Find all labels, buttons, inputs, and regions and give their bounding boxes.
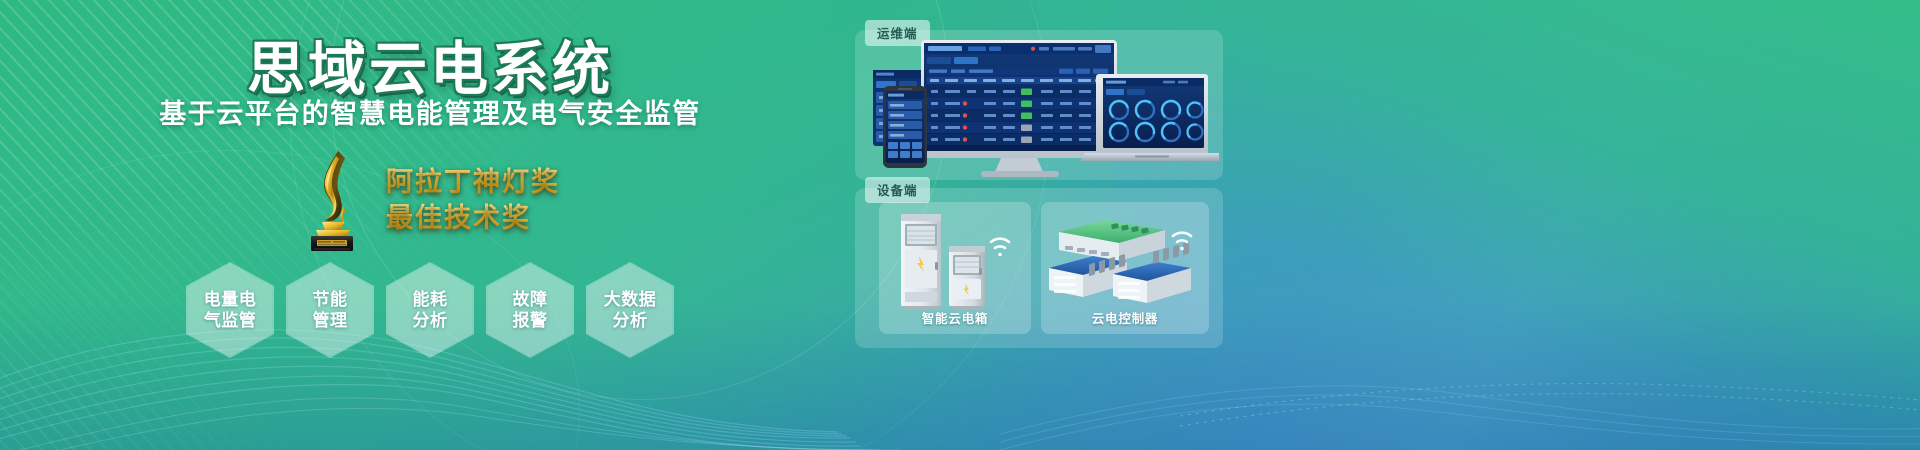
feature-badge-row: 电量电 气监管 节能 管理 能耗 分析 故障 报警 大数据 分析 <box>0 262 860 358</box>
feature-badge-label: 节能 管理 <box>313 289 348 332</box>
promo-banner: 思域云电系统 基于云平台的智慧电能管理及电气安全监管 <box>0 0 1920 450</box>
award-block: 阿拉丁神灯奖 最佳技术奖 <box>0 148 860 252</box>
award-line-2: 最佳技术奖 <box>386 203 560 233</box>
device-card-cloud-power-controller[interactable]: 云电控制器 <box>1041 202 1209 334</box>
trophy-icon <box>300 148 364 252</box>
laptop <box>1080 74 1219 161</box>
panel-device-terminal: 设备端 <box>855 188 1223 348</box>
panel-device-terminal-tag: 设备端 <box>865 177 930 203</box>
feature-badge-label: 大数据 分析 <box>604 289 657 332</box>
device-card-smart-cloud-power-box[interactable]: 智能云电箱 <box>879 202 1031 334</box>
feature-badge-label: 电量电 气监管 <box>204 289 257 332</box>
left-content: 思域云电系统 基于云平台的智慧电能管理及电气安全监管 <box>0 0 860 450</box>
award-text: 阿拉丁神灯奖 最佳技术奖 <box>386 167 560 233</box>
feature-badge-label: 故障 报警 <box>513 289 548 332</box>
wifi-icon <box>991 239 1009 257</box>
feature-badge-energy-saving[interactable]: 节能 管理 <box>286 262 374 358</box>
device-caption: 云电控制器 <box>1041 308 1209 327</box>
panel-ops-terminal: 运维端 <box>855 30 1223 180</box>
right-content: 运维端 <box>845 0 1920 450</box>
ops-terminal-devices <box>863 34 1219 180</box>
tall-cabinet <box>901 214 941 310</box>
smartphone <box>883 86 927 168</box>
feature-badge-power-monitoring[interactable]: 电量电 气监管 <box>186 262 274 358</box>
page-subtitle: 基于云平台的智慧电能管理及电气安全监管 <box>0 92 860 131</box>
award-line-1: 阿拉丁神灯奖 <box>386 167 560 197</box>
device-caption: 智能云电箱 <box>879 308 1031 327</box>
feature-badge-label: 能耗 分析 <box>413 289 448 332</box>
controller-back <box>1059 220 1165 261</box>
short-cabinet <box>949 246 985 310</box>
feature-badge-fault-alarm[interactable]: 故障 报警 <box>486 262 574 358</box>
feature-badge-big-data-analysis[interactable]: 大数据 分析 <box>586 262 674 358</box>
feature-badge-consumption-analysis[interactable]: 能耗 分析 <box>386 262 474 358</box>
